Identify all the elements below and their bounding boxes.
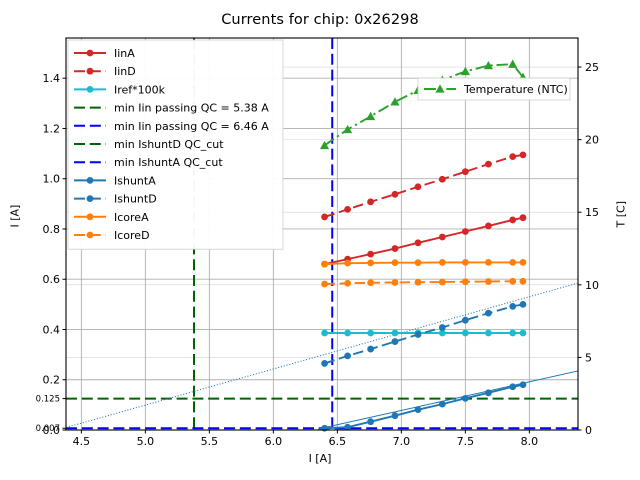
legend-item-label[interactable]: min Iin passing QC = 5.38 A (114, 102, 269, 115)
x-tick-label: 5.0 (137, 435, 155, 448)
legend-item-label[interactable]: Iref*100k (114, 83, 166, 96)
legend-item-label[interactable]: min Iin passing QC = 6.46 A (114, 120, 269, 133)
trend-lines (66, 283, 578, 429)
y-tick-label-right: 15 (585, 206, 599, 219)
x-tick-label: 7.0 (393, 435, 411, 448)
legend-temperature[interactable]: Temperature (NTC) (418, 78, 570, 100)
x-tick-label: 6.5 (329, 435, 347, 448)
legend-item-label[interactable]: IcoreA (114, 211, 149, 224)
x-tick-label: 4.5 (73, 435, 91, 448)
x-tick-label: 6.0 (265, 435, 283, 448)
y-tick-label: 1.2 (43, 122, 61, 135)
y-tick-label: 0.6 (43, 273, 61, 286)
y-tick-label: 1.4 (43, 72, 61, 85)
legend[interactable]: IinAIinDIref*100kmin Iin passing QC = 5.… (68, 40, 283, 249)
y-tick-label: 1.0 (43, 173, 61, 186)
legend-item-label[interactable]: min IshuntD QC_cut (114, 138, 224, 151)
x-tick-label: 8.0 (521, 435, 539, 448)
y-tick-label: 0.4 (43, 323, 61, 336)
data-series (320, 60, 528, 432)
y-tick-label-right: 10 (585, 279, 599, 292)
y-tick-label: 0.2 (43, 374, 61, 387)
x-tick-label: 5.5 (201, 435, 219, 448)
y-tick-label: 0.8 (43, 223, 61, 236)
legend-item-label[interactable]: IinA (114, 47, 135, 60)
legend-item-label[interactable]: IshuntA (114, 174, 156, 187)
y-tick-label-right: 20 (585, 134, 599, 147)
y-tick-label: 0.007 (36, 424, 60, 434)
y-tick-label-right: 0 (585, 424, 592, 437)
x-tick-label: 7.5 (457, 435, 475, 448)
legend-item-label[interactable]: IshuntD (114, 193, 157, 206)
figure: Currents for chip: 0x26298 I [A] T [C] I… (0, 0, 640, 480)
legend-item-label[interactable]: IinD (114, 65, 136, 78)
y-tick-label: 0.125 (36, 395, 60, 405)
plot-canvas: 4.55.05.56.06.57.07.58.00.00.0070.1250.2… (0, 0, 640, 480)
y-tick-label-right: 25 (585, 61, 599, 74)
y-tick-label-right: 5 (585, 351, 592, 364)
legend-item-label[interactable]: min IshuntA QC_cut (114, 156, 223, 169)
legend-item-label[interactable]: IcoreD (114, 229, 150, 242)
legend-item-label-temperature[interactable]: Temperature (NTC) (463, 83, 568, 96)
